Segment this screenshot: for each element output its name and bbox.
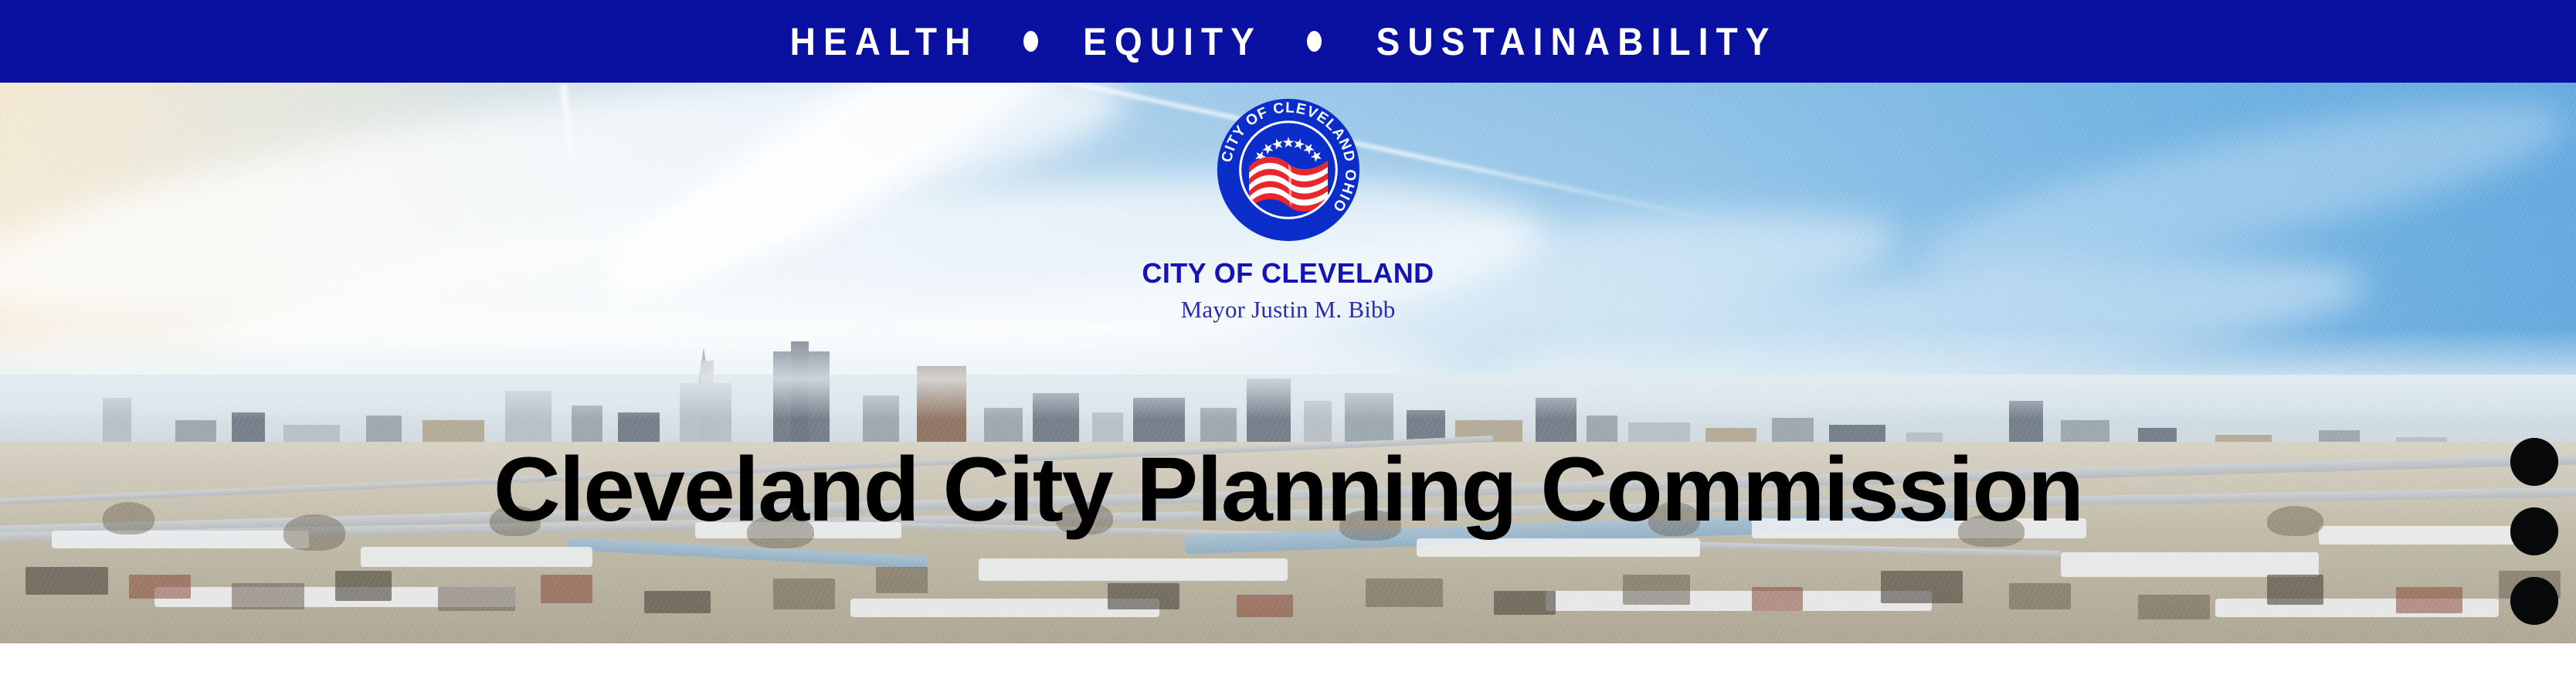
tagline-word-equity: EQUITY (1083, 22, 1262, 61)
brand-title: CITY OF CLEVELAND (995, 260, 1582, 287)
tagline-word-sustainability: SUSTAINABILITY (1376, 22, 1777, 61)
social-links (2510, 438, 2558, 625)
instagram-icon[interactable] (2510, 507, 2558, 555)
page-title: Cleveland City Planning Commission (0, 444, 2576, 535)
tagline-bar: HEALTH EQUITY SUSTAINABILITY (0, 0, 2576, 83)
tagline-word-health: HEALTH (789, 22, 978, 61)
youtube-icon[interactable] (2510, 438, 2558, 486)
facebook-icon[interactable] (2510, 577, 2558, 625)
city-of-cleveland-seal-icon: CITY OF CLEVELAND OHIO (1213, 94, 1364, 246)
brand-subtitle: Mayor Justin M. Bibb (995, 297, 1582, 321)
tagline-separator-dot (1023, 31, 1038, 52)
banner-page: HEALTH EQUITY SUSTAINABILITY (0, 0, 2576, 682)
bottom-white-strip (0, 643, 2576, 682)
tagline-separator-dot (1307, 31, 1322, 52)
brand-lockup: CITY OF CLEVELAND OHIO CITY OF CLEVELAND… (995, 94, 1582, 321)
tagline-row: HEALTH EQUITY SUSTAINABILITY (782, 22, 1794, 61)
